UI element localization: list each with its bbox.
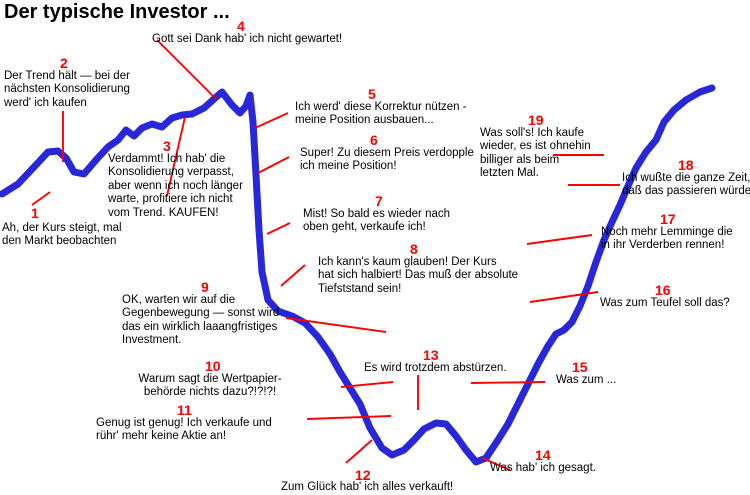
leader-line-7 (267, 223, 290, 234)
annotation-number-5: 5 (368, 87, 376, 101)
annotation-number-16: 16 (655, 283, 671, 297)
annotation-text-11: Genug ist genug! Ich verkaufe und rühr' … (96, 417, 346, 444)
annotation-text-14: Was hab' ich gesagt. (490, 462, 690, 475)
leader-line-12 (346, 440, 372, 463)
annotation-number-10: 10 (205, 359, 221, 373)
annotation-number-6: 6 (370, 133, 378, 147)
annotation-text-2: Der Trend hält — bei der nächsten Konsol… (4, 70, 214, 110)
leader-line-17 (527, 235, 592, 244)
leader-line-8 (281, 265, 305, 286)
annotation-text-5: Ich werd' diese Korrektur nützen - meine… (295, 101, 535, 128)
annotation-text-9: OK, warten wir auf die Gegenbewegung — s… (122, 294, 372, 348)
annotation-number-12: 12 (355, 468, 371, 482)
annotation-text-15: Was zum ... (556, 374, 716, 387)
leader-line-15 (471, 382, 545, 383)
annotation-text-10: Warum sagt die Wertpapier- behörde nicht… (95, 373, 325, 400)
annotation-number-8: 8 (410, 242, 418, 256)
annotation-number-7: 7 (375, 194, 383, 208)
annotation-text-7: Mist! So bald es wieder nach oben geht, … (303, 208, 533, 235)
annotation-number-13: 13 (423, 348, 439, 362)
annotation-text-17: Noch mehr Lemminge die in ihr Verderben … (601, 226, 750, 253)
leader-line-5 (255, 113, 288, 128)
annotation-text-19: Was soll's! Ich kaufe wieder, es ist ohn… (480, 127, 660, 181)
investor-chart-figure: Der typische Investor ... 1 2 3 (0, 0, 750, 495)
annotation-number-11: 11 (177, 403, 192, 417)
annotation-number-9: 9 (201, 280, 209, 294)
annotation-text-12: Zum Glück hab' ich alles verkauft! (281, 481, 561, 494)
annotation-number-1: 1 (31, 206, 39, 220)
annotation-number-3: 3 (163, 139, 171, 153)
annotation-text-13: Es wird trotzdem abstürzen. (364, 362, 584, 375)
annotation-text-1: Ah, der Kurs steigt, mal den Markt beoba… (2, 222, 202, 249)
annotation-number-4: 4 (237, 19, 245, 33)
annotation-number-18: 18 (678, 158, 694, 172)
annotation-number-17: 17 (660, 212, 676, 226)
annotation-text-3: Verdammt! Ich hab' die Konsolidierung ve… (108, 153, 308, 220)
leader-line-1 (32, 192, 50, 205)
annotation-text-16: Was zum Teufel soll das? (600, 297, 750, 310)
annotation-number-14: 14 (535, 448, 551, 462)
annotation-text-8: Ich kann's kaum glauben! Der Kurs hat si… (318, 256, 588, 296)
annotation-number-2: 2 (60, 56, 68, 70)
annotation-text-4: Gott sei Dank hab' ich nicht gewartet! (152, 33, 452, 46)
